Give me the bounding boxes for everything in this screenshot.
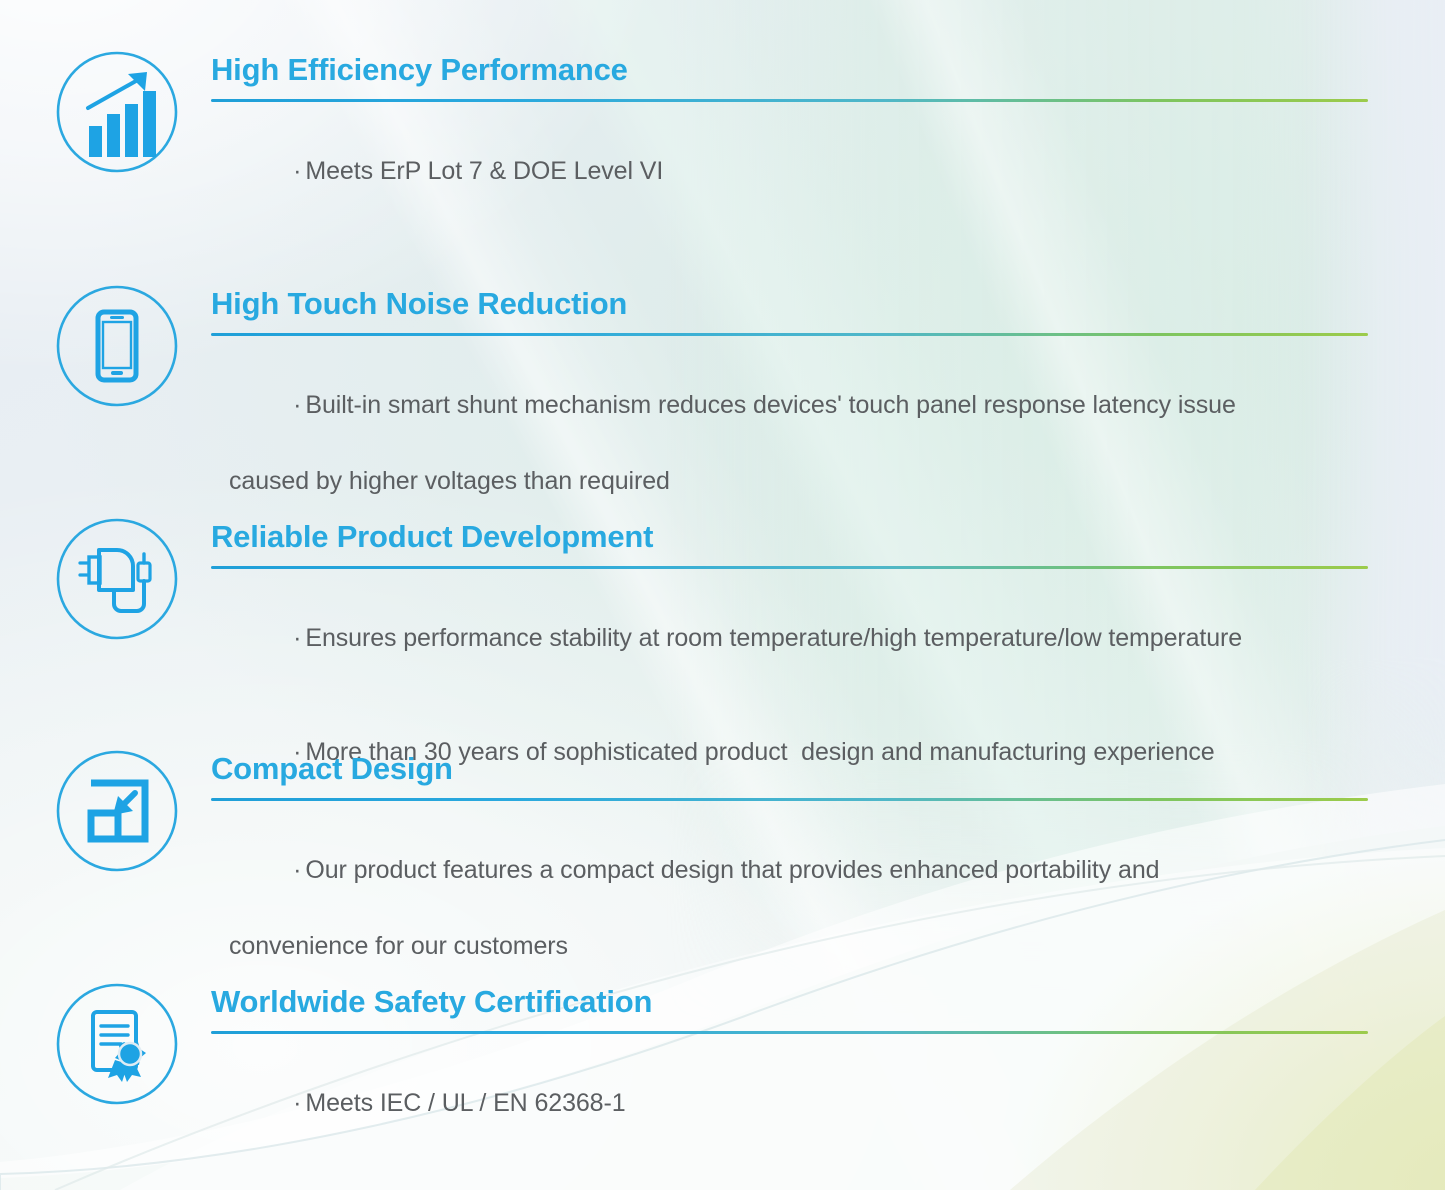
smartphone-icon bbox=[55, 284, 179, 408]
feature-divider bbox=[211, 1031, 1368, 1034]
feature-highlights-page: High Efficiency Performance ·Meets ErP L… bbox=[0, 0, 1445, 1190]
feature-bullet-list: ·Meets ErP Lot 7 & DOE Level VI bbox=[211, 114, 1368, 228]
power-adapter-icon bbox=[55, 517, 179, 641]
bullet-line: ·Meets IEC / UL / EN 62368-1 bbox=[211, 1046, 1368, 1160]
feature-title: Reliable Product Development bbox=[211, 517, 1368, 557]
bullet-text-continuation: caused by higher voltages than required bbox=[211, 462, 1368, 500]
feature-bullet-list: ·Meets IEC / UL / EN 62368-1 bbox=[211, 1046, 1368, 1160]
bullet-text-continuation: convenience for our customers bbox=[211, 927, 1368, 965]
compact-resize-icon bbox=[55, 749, 179, 873]
feature-divider bbox=[211, 798, 1368, 801]
feature-divider bbox=[211, 99, 1368, 102]
feature-title: High Touch Noise Reduction bbox=[211, 284, 1368, 324]
feature-body: High Efficiency Performance ·Meets ErP L… bbox=[211, 50, 1368, 228]
bullet-mark: · bbox=[293, 391, 301, 419]
bullet-text: Ensures performance stability at room te… bbox=[305, 624, 1242, 652]
certificate-seal-icon bbox=[55, 982, 179, 1106]
feature-body: Worldwide Safety Certification ·Meets IE… bbox=[211, 982, 1368, 1160]
bullet-text: Meets ErP Lot 7 & DOE Level VI bbox=[305, 157, 663, 185]
feature-title: Compact Design bbox=[211, 749, 1368, 789]
bullet-mark: · bbox=[293, 1089, 301, 1117]
bullet-mark: · bbox=[293, 624, 301, 652]
bullet-mark: · bbox=[293, 157, 301, 185]
bullet-text: Our product features a compact design th… bbox=[305, 856, 1159, 884]
feature-title: Worldwide Safety Certification bbox=[211, 982, 1368, 1022]
feature-divider bbox=[211, 566, 1368, 569]
bullet-text: Built-in smart shunt mechanism reduces d… bbox=[305, 391, 1235, 419]
bar-chart-growth-icon bbox=[55, 50, 179, 174]
feature-title: High Efficiency Performance bbox=[211, 50, 1368, 90]
bullet-mark: · bbox=[293, 856, 301, 884]
bullet-line: ·Ensures performance stability at room t… bbox=[211, 581, 1368, 695]
bullet-text: Meets IEC / UL / EN 62368-1 bbox=[305, 1089, 625, 1117]
bullet-line: ·Meets ErP Lot 7 & DOE Level VI bbox=[211, 114, 1368, 228]
feature-divider bbox=[211, 333, 1368, 336]
